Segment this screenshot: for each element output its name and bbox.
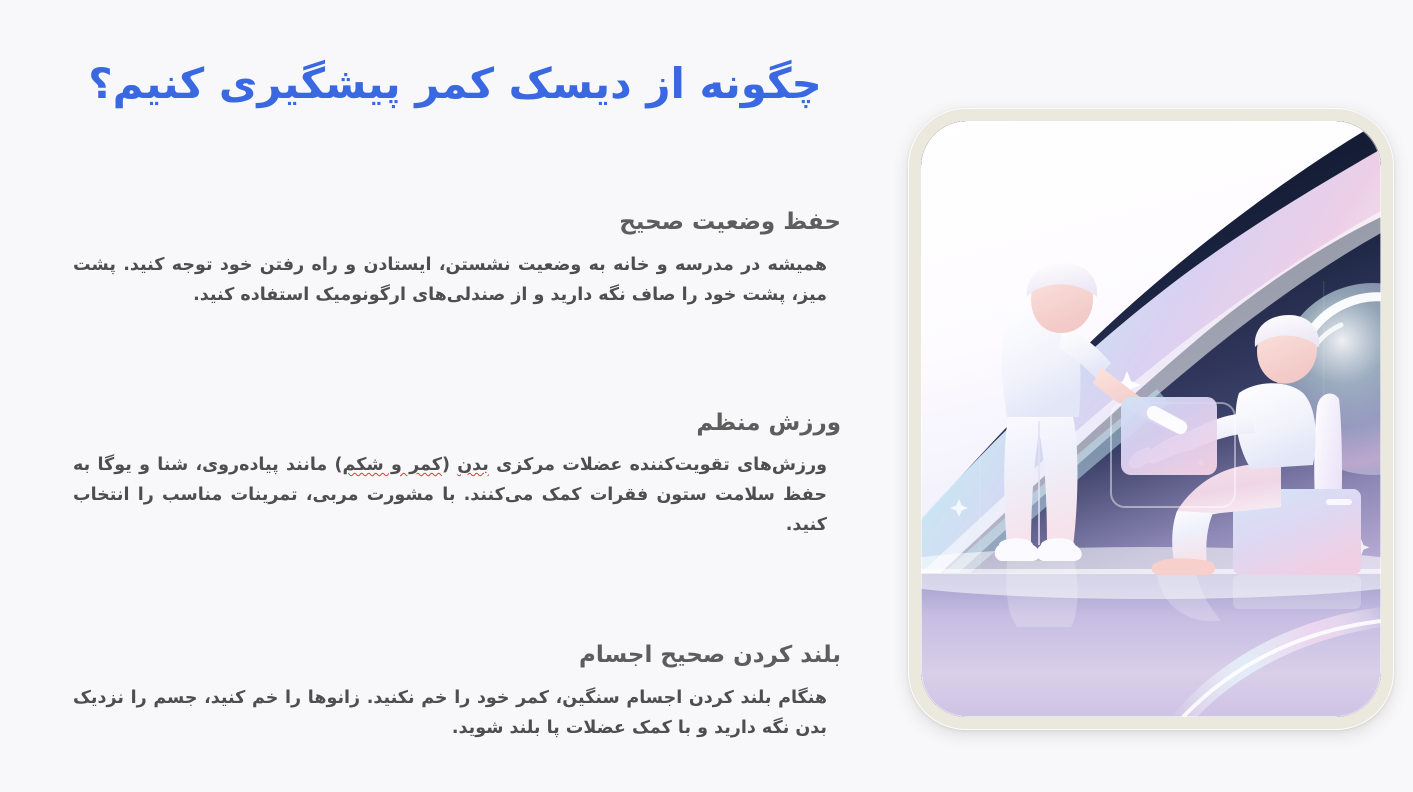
section-body-lifting: هنگام بلند کردن اجسام سنگین، کمر خود را …	[55, 683, 845, 743]
illustration-canvas	[921, 121, 1381, 717]
page-title: چگونه از دیسک کمر پیشگیری کنیم؟	[60, 58, 850, 111]
section-exercise: ورزش منظم ورزش‌های تقویت‌کننده عضلات مرک…	[55, 406, 845, 541]
section-heading-lifting: بلند کردن صحیح اجسام	[55, 638, 845, 673]
illustration-svg	[921, 121, 1381, 717]
content-column: حفظ وضعیت صحیح همیشه در مدرسه و خانه به …	[55, 205, 845, 743]
section-body-exercise: ورزش‌های تقویت‌کننده عضلات مرکزی بدن (کم…	[55, 450, 845, 540]
section-body-posture: همیشه در مدرسه و خانه به وضعیت نشستن، ای…	[55, 250, 845, 310]
storage-box-handle	[1326, 499, 1352, 505]
body-text-run: همیشه در مدرسه و خانه به وضعیت نشستن، ای…	[73, 255, 827, 305]
body-text-run: (	[442, 455, 457, 475]
spellcheck-word[interactable]: کمر و شکم	[343, 455, 442, 475]
section-lifting: بلند کردن صحیح اجسام هنگام بلند کردن اجس…	[55, 638, 845, 743]
illustration-artwork	[921, 121, 1381, 717]
tablet-screen	[1121, 397, 1217, 475]
body-text-run: هنگام بلند کردن اجسام سنگین، کمر خود را …	[73, 688, 827, 738]
slide-canvas: چگونه از دیسک کمر پیشگیری کنیم؟ حفظ وضعی…	[0, 0, 1413, 792]
spellcheck-word[interactable]: بدن	[457, 455, 489, 475]
section-heading-posture: حفظ وضعیت صحیح	[55, 205, 845, 240]
section-posture: حفظ وضعیت صحیح همیشه در مدرسه و خانه به …	[55, 205, 845, 310]
section-heading-exercise: ورزش منظم	[55, 406, 845, 441]
seated-foot	[1151, 558, 1215, 575]
illustration-frame	[908, 108, 1394, 730]
body-text-run: ورزش‌های تقویت‌کننده عضلات مرکزی	[489, 455, 827, 475]
